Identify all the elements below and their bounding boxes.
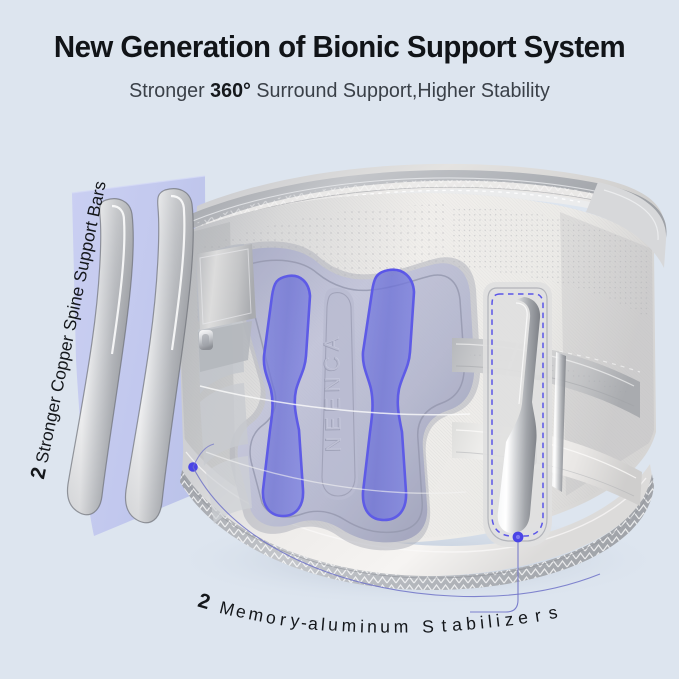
product-illustration: NEENCA NEENCA (0, 0, 679, 679)
callout-bottom-char: m (394, 617, 409, 638)
callout-bottom-char: y (289, 610, 300, 632)
callout-bottom-char: b (466, 613, 478, 635)
belt-left-strap-block (196, 244, 256, 372)
callout-bottom-char: n (366, 617, 376, 638)
belt-left-hook (199, 330, 213, 350)
memory-aluminum-stabilizer-right (483, 282, 552, 547)
callout-bottom-char: u (327, 614, 338, 636)
callout-bottom-char: i (359, 616, 364, 637)
callout-bottom-char: t (441, 615, 447, 636)
callout-bottom-char: m (341, 615, 357, 637)
callout-bottom-char: u (380, 617, 390, 638)
callout-bottom-char: S (422, 616, 435, 637)
callout-bottom-char: a (452, 614, 463, 636)
infographic-canvas: New Generation of Bionic Support System … (0, 0, 679, 679)
